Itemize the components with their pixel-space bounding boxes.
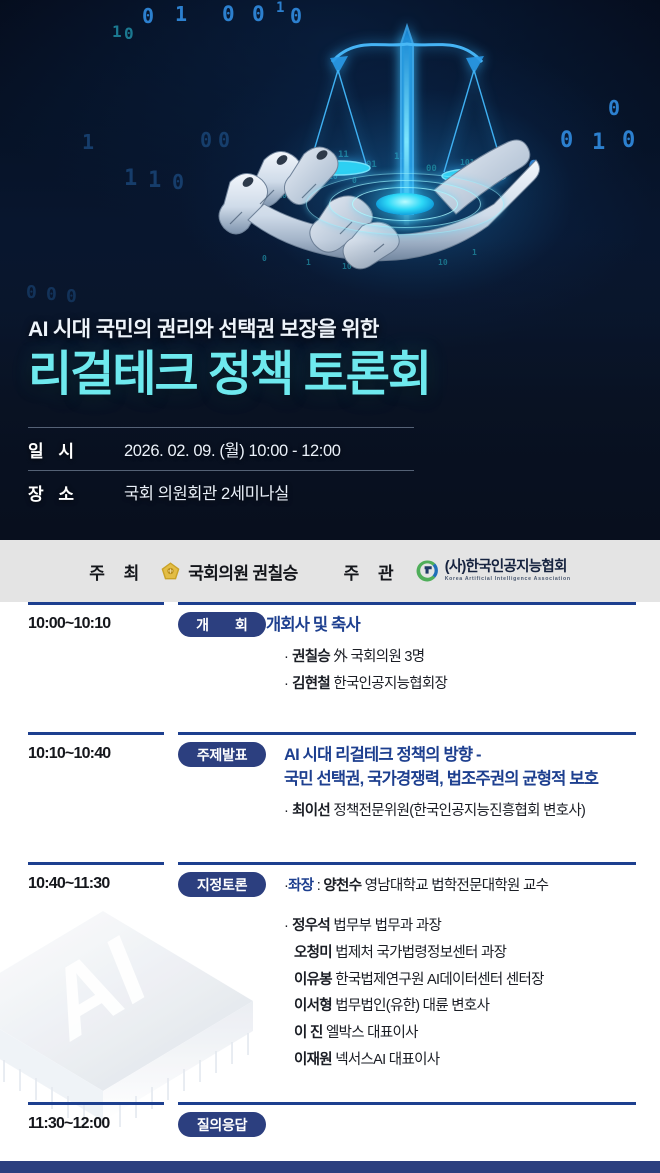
- panelist-title: 법무법인(유한) 대륜 변호사: [332, 998, 489, 1014]
- program-time: 10:40~11:30: [0, 862, 178, 1102]
- panelist-name: 이유봉: [294, 972, 332, 988]
- speaker-name: 김현철: [292, 676, 330, 692]
- list-item: ·최이선 정책전문위원(한국인공지능진흥협회 변호사): [284, 798, 638, 825]
- list-item: ·정우석 법무부 법무과 과장: [284, 913, 638, 940]
- panelist-title: 법무부 법무과 과장: [330, 918, 441, 934]
- program-body: 질의응답: [178, 1102, 660, 1162]
- program-row-discussion: 10:40~11:30 지정토론 ·좌장 : 양천수 영남대학교 법학전문대학원…: [0, 862, 660, 1102]
- badge-line: 개 회 개회사 및 축사: [178, 612, 638, 638]
- organizer-group: 주 관 (사)한국인공지능협회 Korea Artificial Intelli…: [344, 559, 571, 584]
- info-label-date: 일 시: [28, 437, 124, 462]
- hero-subtitle: AI 시대 국민의 권리와 선택권 보장을 위한: [28, 313, 640, 343]
- panelist-title: 한국법제연구원 AI데이터센터 센터장: [332, 972, 544, 988]
- program-row-presentation: 10:10~10:40 주제발표 AI 시대 리걸테크 정책의 방향 - 국민 …: [0, 732, 660, 862]
- info-value-venue: 국회 의원회관 2세미나실: [124, 480, 289, 504]
- program-rows: 10:00~10:10 개 회 개회사 및 축사 ·권칠승 外 국회의원 3명 …: [0, 602, 660, 1162]
- speaker-title: 정책전문위원(한국인공지능진흥협회 변호사): [330, 803, 585, 819]
- panelist-title: 엘박스 대표이사: [323, 1025, 418, 1041]
- badge-line: 지정토론 ·좌장 : 양천수 영남대학교 법학전문대학원 교수: [178, 872, 638, 897]
- hero-text-block: AI 시대 국민의 권리와 선택권 보장을 위한 리걸테크 정책 토론회 일 시…: [28, 313, 640, 514]
- program-time: 10:10~10:40: [0, 732, 178, 862]
- program-badge-presentation: 주제발표: [178, 742, 266, 767]
- program-heading-block: AI 시대 리걸테크 정책의 방향 - 국민 선택권, 국가경쟁력, 법조주권의…: [284, 742, 598, 792]
- list-item: 이서형 법무법인(유한) 대륜 변호사: [284, 993, 638, 1020]
- program-badge-qna: 질의응답: [178, 1112, 266, 1137]
- badge-line: 질의응답: [178, 1112, 638, 1137]
- kaia-logo-text: (사)한국인공지능협회 Korea Artificial Intelligenc…: [445, 560, 571, 583]
- panelist-name: 이서형: [294, 998, 332, 1014]
- speaker-name: 권칠승: [292, 649, 330, 665]
- info-label-venue: 장 소: [28, 480, 124, 505]
- program-time: 11:30~12:00: [0, 1102, 178, 1162]
- list-item: 이재원 넥서스AI 대표이사: [284, 1047, 638, 1074]
- chair-name: 양천수: [323, 878, 361, 894]
- holographic-rings: [300, 168, 510, 240]
- national-assembly-emblem-icon: [160, 561, 181, 582]
- program-body: 지정토론 ·좌장 : 양천수 영남대학교 법학전문대학원 교수 ·정우석 법무부…: [178, 862, 660, 1102]
- organizer-caption: 주 관: [344, 559, 401, 584]
- program-time: 10:00~10:10: [0, 602, 178, 732]
- row-divider: [0, 732, 660, 735]
- program-body: 주제발표 AI 시대 리걸테크 정책의 방향 - 국민 선택권, 국가경쟁력, …: [178, 732, 660, 862]
- host-group: 주 최 국회의원 권칠승: [89, 559, 297, 584]
- list-item: 이 진 엘박스 대표이사: [284, 1020, 638, 1047]
- info-row-venue: 장 소 국회 의원회관 2세미나실: [28, 470, 414, 514]
- chair-line: ·좌장 : 양천수 영남대학교 법학전문대학원 교수: [284, 872, 548, 895]
- info-value-date: 2026. 02. 09. (월) 10:00 - 12:00: [124, 437, 341, 461]
- program-heading: 개회사 및 축사: [266, 612, 360, 638]
- hero-banner: 0 1 0 0 1 0 1 0 1 0 0 1 1 0 0 0 1 0 1 0 …: [0, 0, 660, 540]
- program-body: 개 회 개회사 및 축사 ·권칠승 外 국회의원 3명 ·김현철 한국인공지능협…: [178, 602, 660, 732]
- list-item: ·권칠승 外 국회의원 3명: [284, 644, 638, 671]
- panelist-name: 이 진: [294, 1025, 323, 1041]
- host-name: 국회의원 권칠승: [188, 559, 297, 584]
- program-heading-line2: 국민 선택권, 국가경쟁력, 법조주권의 균형적 보호: [284, 768, 598, 792]
- badge-line: 주제발표 AI 시대 리걸테크 정책의 방향 - 국민 선택권, 국가경쟁력, …: [178, 742, 638, 792]
- kaia-logo-mark-icon: [415, 559, 439, 583]
- hero-title: 리걸테크 정책 토론회: [28, 349, 640, 401]
- glow-orb: [376, 193, 434, 215]
- panelist-name: 이재원: [294, 1052, 332, 1068]
- program-row-opening: 10:00~10:10 개 회 개회사 및 축사 ·권칠승 外 국회의원 3명 …: [0, 602, 660, 732]
- host-organizer-bar: 주 최 국회의원 권칠승 주 관 (사)한국인공지능협회 Korea: [0, 540, 660, 602]
- chair-separator: :: [313, 878, 323, 894]
- panelist-name: 오청미: [294, 945, 332, 961]
- list-item: 오청미 법제처 국가법령정보센터 과장: [284, 940, 638, 967]
- program-bullets: ·권칠승 外 국회의원 3명 ·김현철 한국인공지능협회장: [284, 644, 638, 698]
- row-divider: [0, 602, 660, 605]
- host-caption: 주 최: [89, 559, 146, 584]
- speaker-name: 최이선: [292, 803, 330, 819]
- program-heading-line1: AI 시대 리걸테크 정책의 방향 -: [284, 744, 598, 768]
- row-divider: [0, 862, 660, 865]
- panelist-list: ·정우석 법무부 법무과 과장 오청미 법제처 국가법령정보센터 과장 이유봉 …: [284, 913, 638, 1074]
- list-item: 이유봉 한국법제연구원 AI데이터센터 센터장: [284, 967, 638, 994]
- program-badge-discussion: 지정토론: [178, 872, 266, 897]
- panelist-title: 넥서스AI 대표이사: [332, 1052, 439, 1068]
- kaia-name-en: Korea Artificial Intelligence Associatio…: [445, 577, 571, 582]
- speaker-title: 한국인공지능협회장: [330, 676, 447, 692]
- kaia-logo: (사)한국인공지능협회 Korea Artificial Intelligenc…: [415, 559, 571, 583]
- event-info-table: 일 시 2026. 02. 09. (월) 10:00 - 12:00 장 소 …: [28, 427, 414, 514]
- list-item: ·김현철 한국인공지능협회장: [284, 671, 638, 698]
- footer-bar: [0, 1161, 660, 1173]
- panelist-name: 정우석: [292, 918, 330, 934]
- info-row-date: 일 시 2026. 02. 09. (월) 10:00 - 12:00: [28, 427, 414, 470]
- chair-label: 좌장: [288, 878, 313, 894]
- poster-root: 0 1 0 0 1 0 1 0 1 0 0 1 1 0 0 0 1 0 1 0 …: [0, 0, 660, 1173]
- chair-title: 영남대학교 법학전문대학원 교수: [361, 878, 548, 894]
- program-schedule: AI 10:00~10:10 개 회 개회사 및 축사: [0, 602, 660, 1173]
- program-row-qna: 11:30~12:00 질의응답: [0, 1102, 660, 1162]
- panelist-title: 법제처 국가법령정보센터 과장: [332, 945, 506, 961]
- program-bullets: ·최이선 정책전문위원(한국인공지능진흥협회 변호사): [284, 798, 638, 825]
- speaker-title: 外 국회의원 3명: [330, 649, 424, 665]
- row-divider: [0, 1102, 660, 1105]
- program-badge-opening: 개 회: [178, 612, 266, 637]
- kaia-name-ko: (사)한국인공지능협회: [445, 560, 571, 575]
